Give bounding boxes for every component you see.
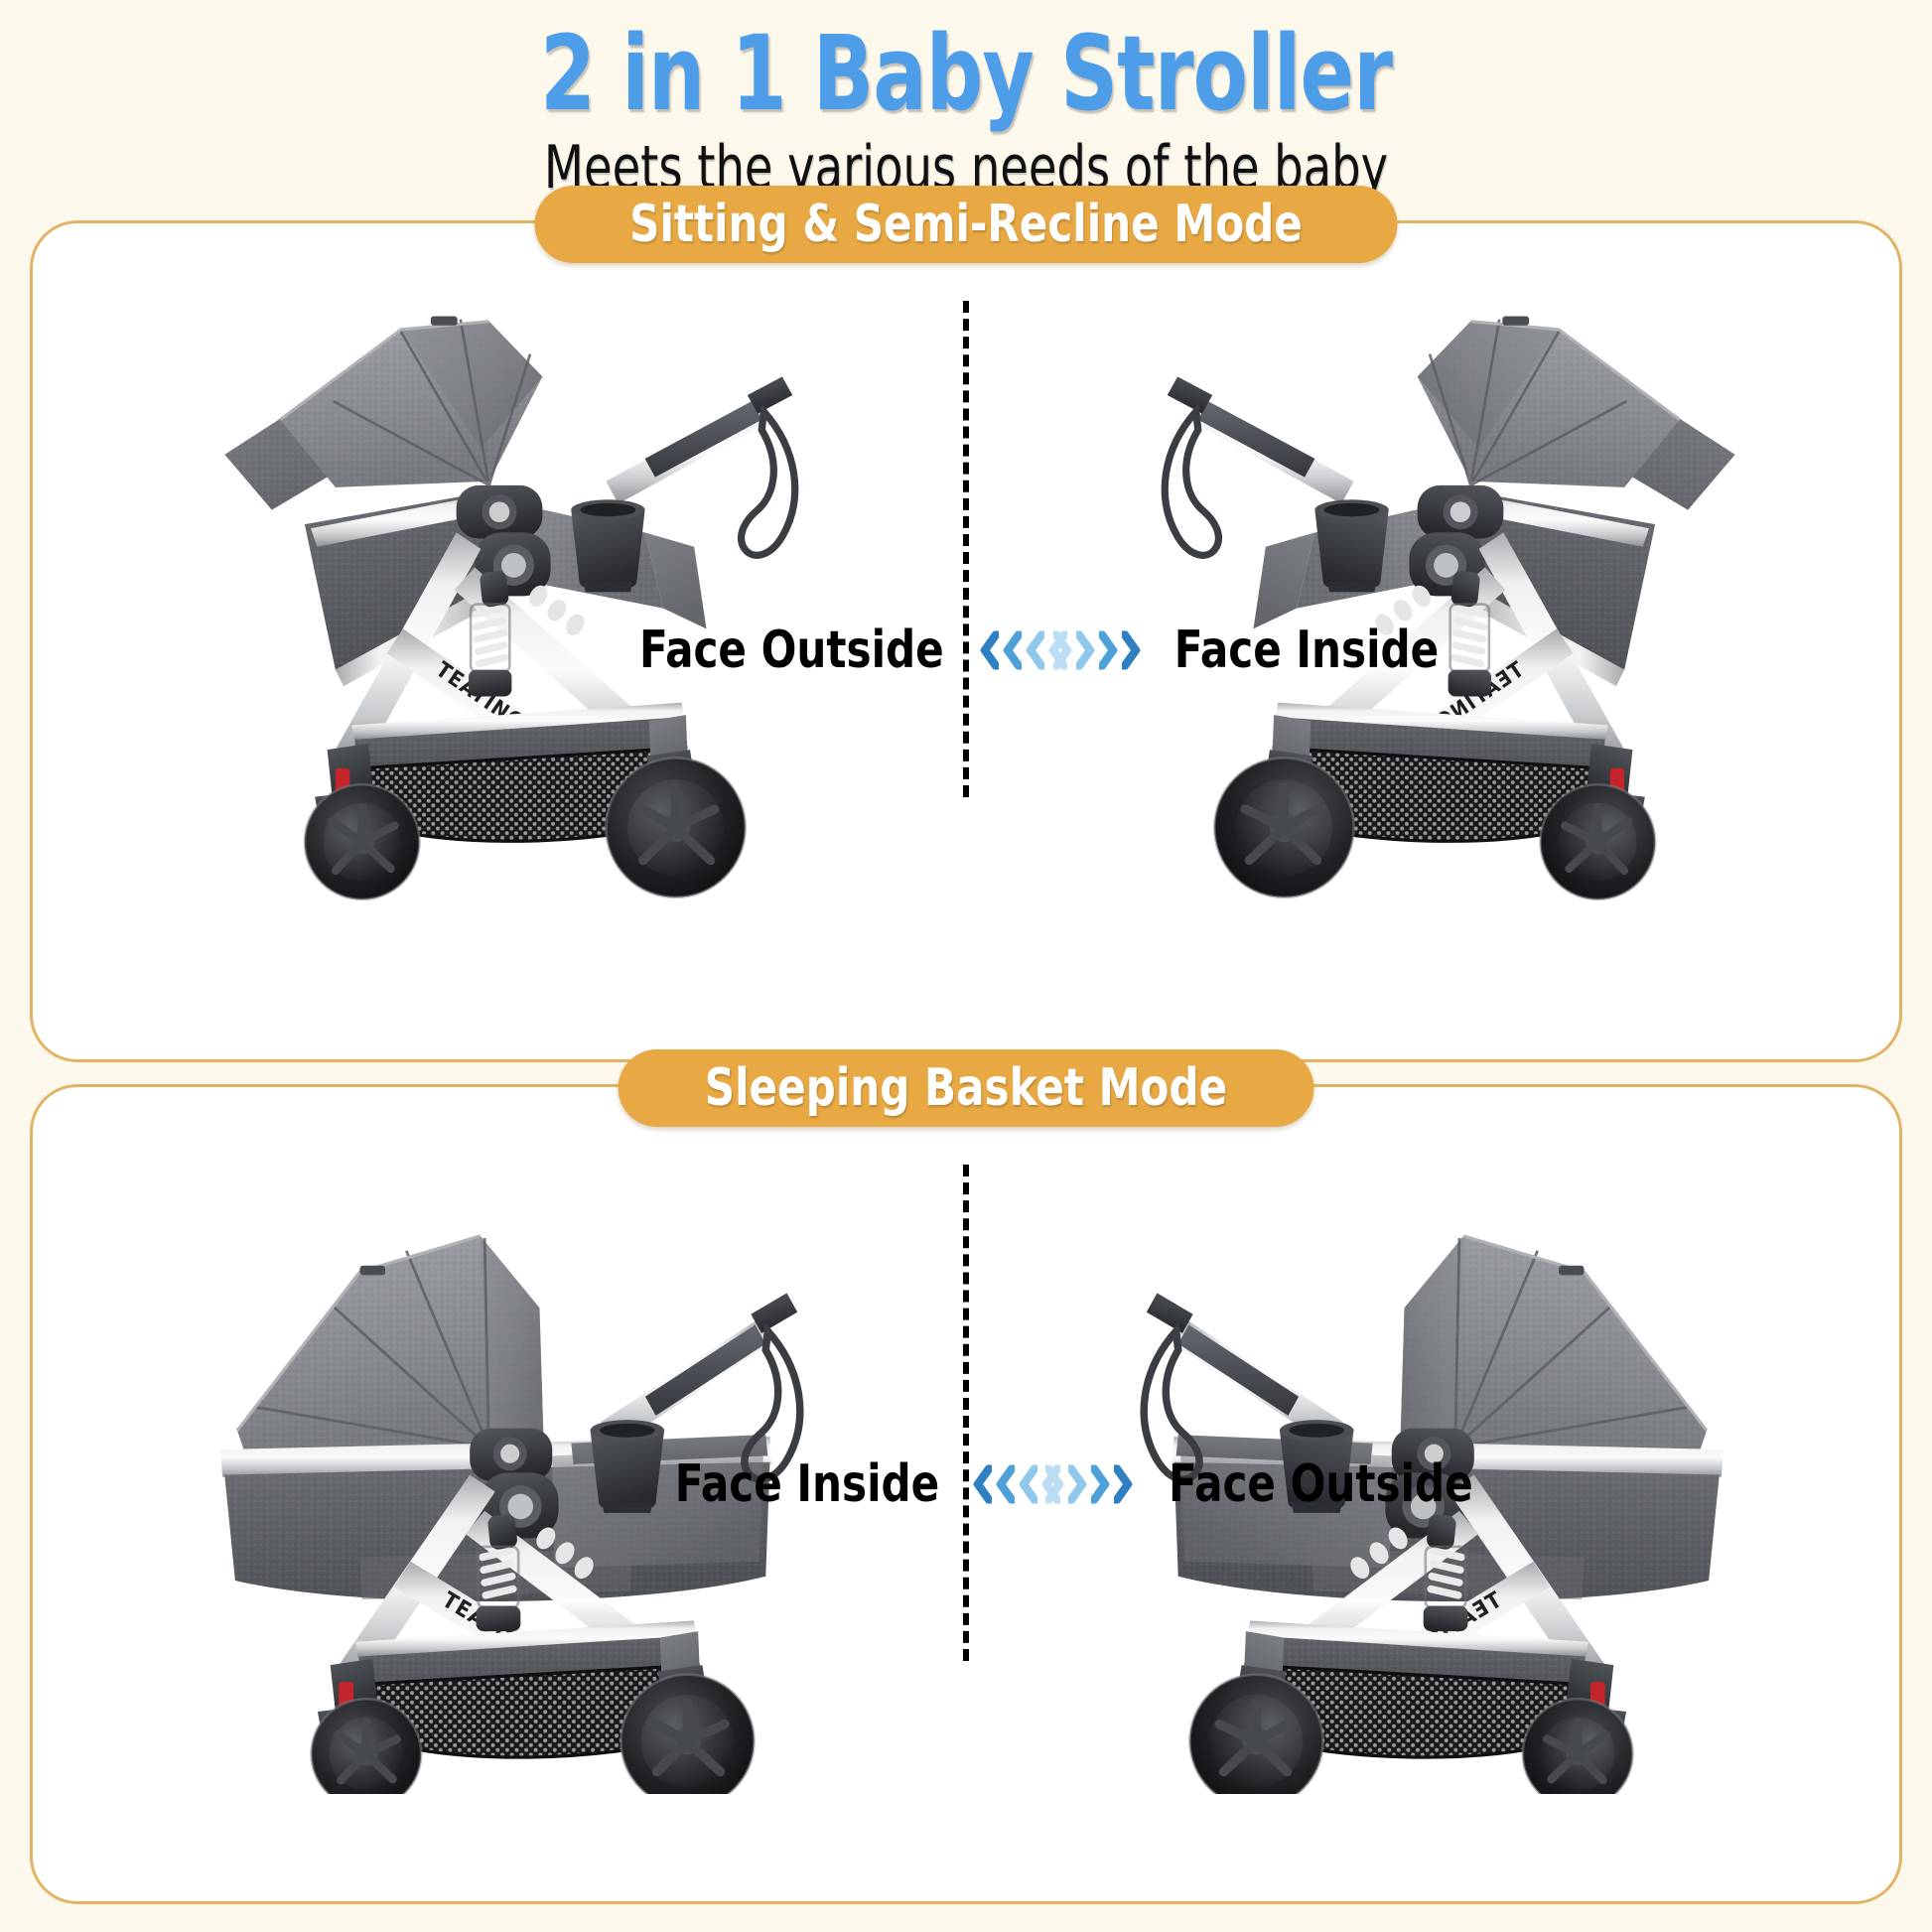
chevron-right-icon xyxy=(1045,1464,1067,1504)
chevron-left-icon xyxy=(1023,630,1044,670)
divider-sitting xyxy=(963,301,969,797)
chevron-right-icon xyxy=(1114,1464,1136,1504)
page-header: 2 in 1 Baby Stroller Meets the various n… xyxy=(0,0,1932,201)
chevron-left-icon xyxy=(1000,630,1022,670)
label-face-outside-sleeping: Face Outside xyxy=(1045,1454,1490,1514)
chevron-left-icon xyxy=(1016,1464,1037,1504)
face-inside-text: Face Inside xyxy=(1174,621,1439,680)
chevron-right-icon xyxy=(1122,630,1144,670)
label-face-outside-sitting: Face Outside xyxy=(622,621,1067,680)
stroller-sitting-face-inside xyxy=(1143,268,1778,903)
label-face-inside-sleeping: Face Inside xyxy=(660,1454,1060,1514)
chevrons-right-sleeping xyxy=(1045,1464,1136,1504)
page-title: 2 in 1 Baby Stroller xyxy=(135,18,1797,129)
label-face-inside-sitting: Face Inside xyxy=(1053,621,1453,680)
divider-sleeping xyxy=(963,1165,969,1661)
panel-sleeping-mode: Sleeping Basket Mode Face Inside xyxy=(30,1084,1902,1904)
chevron-right-icon xyxy=(1053,630,1075,670)
chevron-right-icon xyxy=(1076,630,1098,670)
chevron-right-icon xyxy=(1068,1464,1090,1504)
chevron-left-icon xyxy=(993,1464,1015,1504)
chevrons-right-sitting xyxy=(1053,630,1144,670)
chevron-left-icon xyxy=(977,630,999,670)
face-outside-text: Face Outside xyxy=(639,621,944,680)
face-outside-text: Face Outside xyxy=(1169,1454,1473,1514)
stroller-sitting-face-outside xyxy=(182,268,817,903)
chevron-right-icon xyxy=(1091,1464,1113,1504)
face-inside-text: Face Inside xyxy=(675,1454,939,1514)
chevron-left-icon xyxy=(970,1464,992,1504)
panel-sitting-mode: Sitting & Semi-Recline Mode Face Outside xyxy=(30,220,1902,1062)
chevron-right-icon xyxy=(1099,630,1121,670)
